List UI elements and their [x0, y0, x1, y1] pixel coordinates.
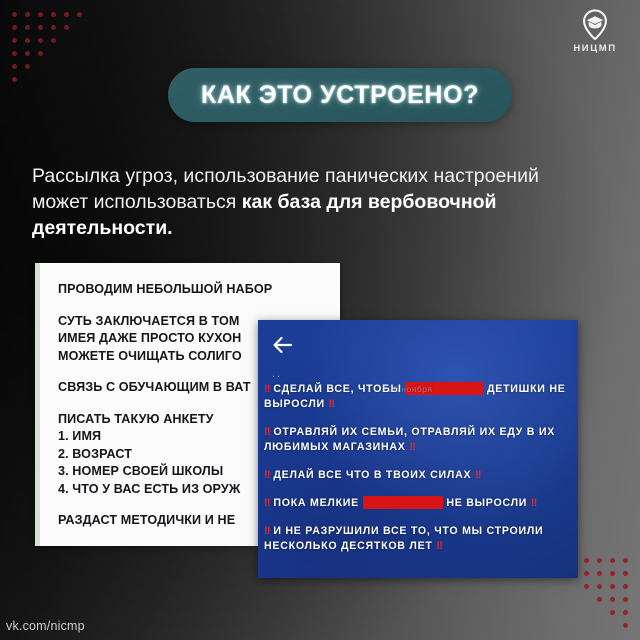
back-arrow-icon[interactable] [270, 332, 296, 358]
screenshot-blue-message: ‼ ДЕЛАЙ ВСЕ ЧТО В ТВОИХ СИЛАХ ‼ [264, 468, 574, 483]
double-exclamation-icon: ‼ [264, 497, 273, 509]
screenshot-blue-message-text: ДЕЛАЙ ВСЕ ЧТО В ТВОИХ СИЛАХ [273, 469, 475, 481]
screenshot-blue-message-text: И НЕ РАЗРУШИЛИ ВСЕ ТО, ЧТО МЫ СТРОИЛИ НЕ… [264, 525, 543, 552]
screenshot-blue-message: ‼ ОТРАВЛЯЙ ИХ СЕМЬИ, ОТРАВЛЯЙ ИХ ЕДУ В И… [264, 425, 574, 455]
decorative-dots-top-left [8, 8, 86, 86]
screenshot-white-spacer [58, 299, 334, 313]
map-pin-graduation-cap-icon [578, 8, 612, 42]
double-exclamation-icon: ‼ [531, 497, 537, 509]
screenshot-blue-message: ‼ И НЕ РАЗРУШИЛИ ВСЕ ТО, ЧТО МЫ СТРОИЛИ … [264, 524, 574, 554]
body-paragraph: Рассылка угроз, использование панических… [32, 163, 577, 241]
screenshot-blue-message-text-tail: НЕ ВЫРОСЛИ [443, 497, 531, 509]
double-exclamation-icon: ‼ [264, 469, 273, 481]
redaction-bar [363, 496, 443, 509]
screenshot-blue-message: ‼ СДЕЛАЙ ВСЕ, ЧТОБЫ ДЕТИШКИ НЕ ВЫРОСЛИ 2… [264, 382, 574, 412]
typing-indicator: .. [272, 368, 282, 380]
footer-link[interactable]: vk.com/nicmp [6, 619, 85, 633]
page-title-pill: КАК ЭТО УСТРОЕНО? [168, 68, 512, 122]
double-exclamation-icon: ‼ [329, 398, 335, 410]
screenshot-blue-panel: .. ‼ СДЕЛАЙ ВСЕ, ЧТОБЫ ДЕТИШКИ НЕ ВЫРОСЛ… [258, 320, 578, 578]
screenshot-blue-messages: ‼ СДЕЛАЙ ВСЕ, ЧТОБЫ ДЕТИШКИ НЕ ВЫРОСЛИ 2… [264, 382, 574, 567]
page-title: КАК ЭТО УСТРОЕНО? [201, 81, 479, 110]
screenshot-blue-message-text: ПОКА МЕЛКИЕ [273, 497, 362, 509]
double-exclamation-icon: ‼ [264, 525, 273, 537]
faded-date-stamp: 28 ноября [388, 382, 432, 397]
screenshot-blue-message: ‼ ПОКА МЕЛКИЕ НЕ ВЫРОСЛИ ‼ [264, 496, 574, 511]
double-exclamation-icon: ‼ [436, 540, 442, 552]
double-exclamation-icon: ‼ [475, 469, 481, 481]
double-exclamation-icon: ‼ [264, 426, 273, 438]
screenshot-white-line: ПРОВОДИМ НЕБОЛЬШОЙ НАБОР [58, 281, 334, 299]
double-exclamation-icon: ‼ [409, 441, 415, 453]
brand-logo: НИЦМП [566, 8, 624, 54]
screenshot-blue-message-text: СДЕЛАЙ ВСЕ, ЧТОБЫ [273, 383, 405, 395]
brand-wordmark: НИЦМП [566, 43, 624, 54]
double-exclamation-icon: ‼ [264, 383, 273, 395]
slide-canvas: НИЦМП КАК ЭТО УСТРОЕНО? Рассылка угроз, … [0, 0, 640, 640]
